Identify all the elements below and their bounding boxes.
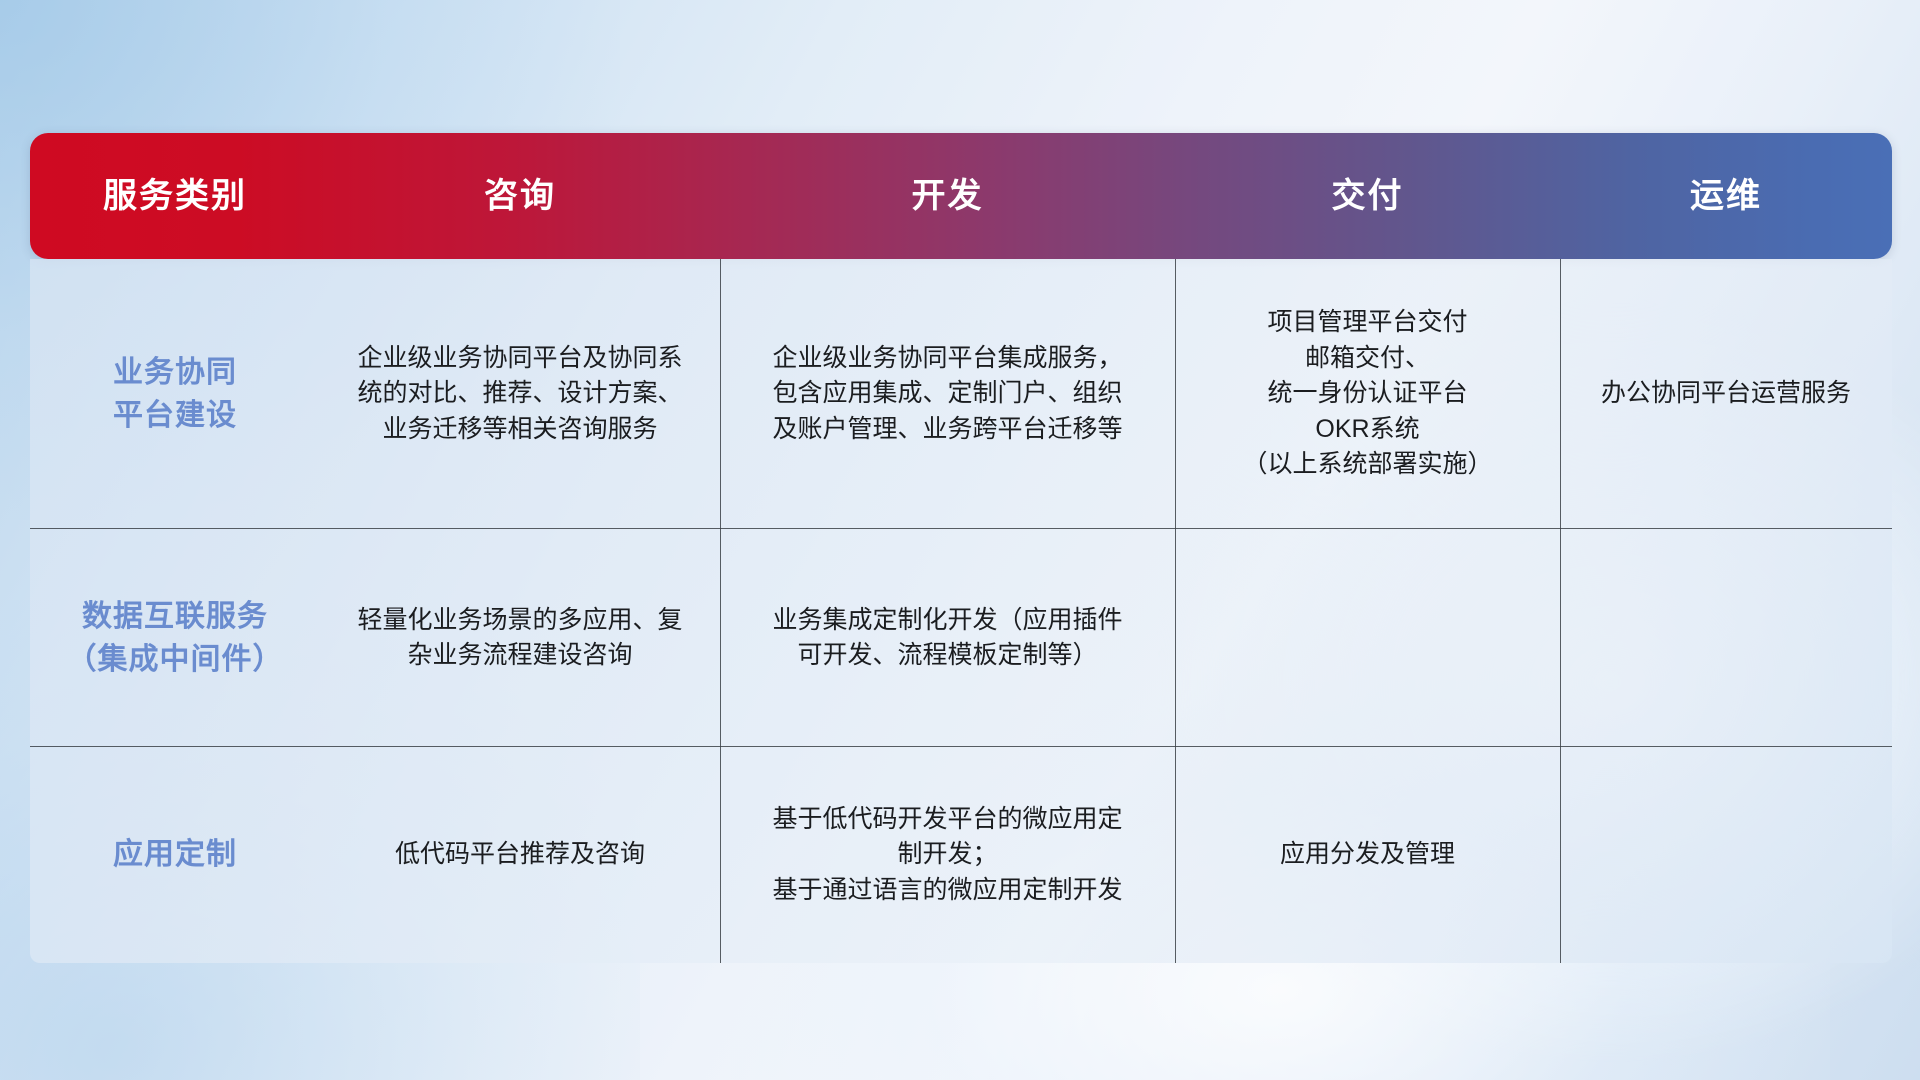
row-label-text: 业务协同 平台建设	[113, 351, 237, 438]
cell-text: 企业级业务协同平台集成服务， 包含应用集成、定制门户、组织 及账户管理、业务跨平…	[772, 341, 1122, 448]
column-header-consulting: 咨询	[320, 179, 720, 213]
cell-text: 业务集成定制化开发（应用插件 可开发、流程模板定制等）	[772, 603, 1122, 674]
column-header-development: 开发	[720, 179, 1175, 213]
column-header-operations: 运维	[1560, 179, 1892, 213]
table-body: 业务协同 平台建设 企业级业务协同平台及协同系 统的对比、推荐、设计方案、 业务…	[30, 259, 1892, 963]
cell-consulting: 轻量化业务场景的多应用、复 杂业务流程建设咨询	[320, 529, 720, 747]
cell-text: 基于低代码开发平台的微应用定 制开发； 基于通过语言的微应用定制开发	[772, 802, 1122, 909]
table-row: 业务协同 平台建设 企业级业务协同平台及协同系 统的对比、推荐、设计方案、 业务…	[30, 259, 1892, 529]
cell-delivery: 应用分发及管理	[1175, 747, 1560, 963]
cell-operations	[1560, 529, 1892, 747]
table-row: 应用定制 低代码平台推荐及咨询 基于低代码开发平台的微应用定 制开发； 基于通过…	[30, 747, 1892, 963]
cell-development: 企业级业务协同平台集成服务， 包含应用集成、定制门户、组织 及账户管理、业务跨平…	[720, 259, 1175, 529]
table-row: 数据互联服务 （集成中间件） 轻量化业务场景的多应用、复 杂业务流程建设咨询 业…	[30, 529, 1892, 747]
cell-text: 低代码平台推荐及咨询	[395, 837, 645, 873]
cell-text: 应用分发及管理	[1280, 837, 1455, 873]
cell-consulting: 低代码平台推荐及咨询	[320, 747, 720, 963]
service-matrix-table: 服务类别 咨询 开发 交付 运维 业务协同 平台建设 企业级业务协同平台及协同系…	[30, 133, 1892, 963]
cell-delivery	[1175, 529, 1560, 747]
cell-delivery: 项目管理平台交付 邮箱交付、 统一身份认证平台 OKR系统 （以上系统部署实施）	[1175, 259, 1560, 529]
row-label-cell: 业务协同 平台建设	[30, 259, 320, 529]
cell-development: 基于低代码开发平台的微应用定 制开发； 基于通过语言的微应用定制开发	[720, 747, 1175, 963]
row-label-text: 数据互联服务 （集成中间件）	[67, 595, 284, 682]
table-header-row: 服务类别 咨询 开发 交付 运维	[30, 133, 1892, 259]
row-label-cell: 数据互联服务 （集成中间件）	[30, 529, 320, 747]
cell-text: 办公协同平台运营服务	[1601, 376, 1851, 412]
cell-operations: 办公协同平台运营服务	[1560, 259, 1892, 529]
cell-operations	[1560, 747, 1892, 963]
cell-text: 企业级业务协同平台及协同系 统的对比、推荐、设计方案、 业务迁移等相关咨询服务	[357, 341, 682, 448]
row-label-text: 应用定制	[113, 833, 237, 877]
cell-consulting: 企业级业务协同平台及协同系 统的对比、推荐、设计方案、 业务迁移等相关咨询服务	[320, 259, 720, 529]
cell-text: 项目管理平台交付 邮箱交付、 统一身份认证平台 OKR系统 （以上系统部署实施）	[1242, 305, 1492, 483]
cell-development: 业务集成定制化开发（应用插件 可开发、流程模板定制等）	[720, 529, 1175, 747]
column-header-delivery: 交付	[1175, 179, 1560, 213]
row-label-cell: 应用定制	[30, 747, 320, 963]
cell-text: 轻量化业务场景的多应用、复 杂业务流程建设咨询	[357, 603, 682, 674]
column-header-service-category: 服务类别	[30, 179, 320, 213]
